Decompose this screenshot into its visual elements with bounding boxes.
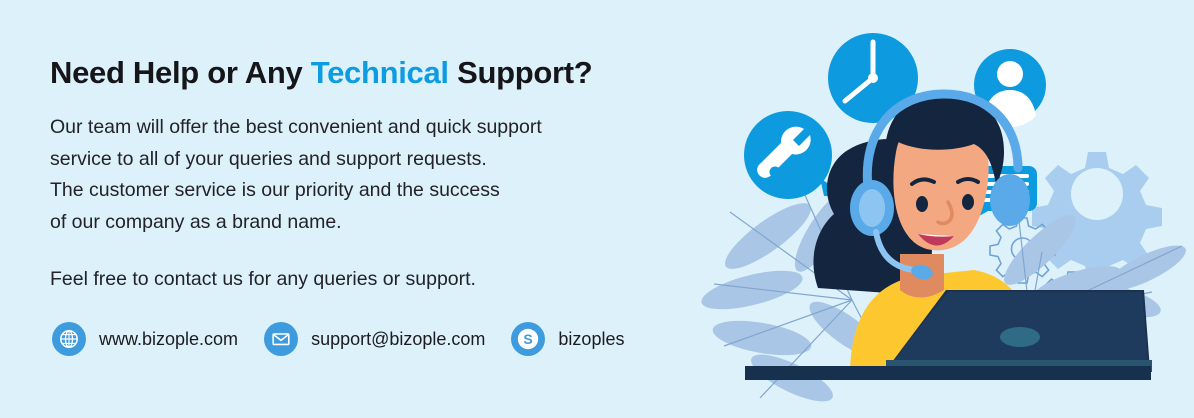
text-column: Need Help or Any Technical Support? Our … [50, 56, 740, 296]
contact-item-skype[interactable]: S bizoples [511, 322, 624, 356]
contact-item-email[interactable]: support@bizople.com [264, 322, 485, 356]
contact-row: www.bizople.com support@bizople.com S bi… [52, 322, 650, 356]
headline-part1: Need Help or Any [50, 55, 311, 90]
svg-text:S: S [524, 331, 533, 347]
headline-accent: Technical [311, 55, 449, 90]
website-label: www.bizople.com [99, 329, 238, 350]
desk [745, 366, 1151, 380]
body-line-4: of our company as a brand name. [50, 207, 740, 239]
body-line-1: Our team will offer the best convenient … [50, 112, 740, 144]
body-line-3: The customer service is our priority and… [50, 175, 740, 207]
support-banner: Need Help or Any Technical Support? Our … [0, 0, 1194, 418]
closing-paragraph: Feel free to contact us for any queries … [50, 264, 740, 295]
body-line-2: service to all of your queries and suppo… [50, 144, 740, 176]
support-illustration [700, 0, 1194, 418]
skype-icon: S [511, 322, 545, 356]
envelope-icon [264, 322, 298, 356]
headline-part2: Support? [449, 55, 593, 90]
email-label: support@bizople.com [311, 329, 485, 350]
contact-item-website[interactable]: www.bizople.com [52, 322, 238, 356]
page-title: Need Help or Any Technical Support? [50, 56, 740, 90]
body-paragraph: Our team will offer the best convenient … [50, 112, 740, 238]
globe-icon [52, 322, 86, 356]
skype-label: bizoples [558, 329, 624, 350]
